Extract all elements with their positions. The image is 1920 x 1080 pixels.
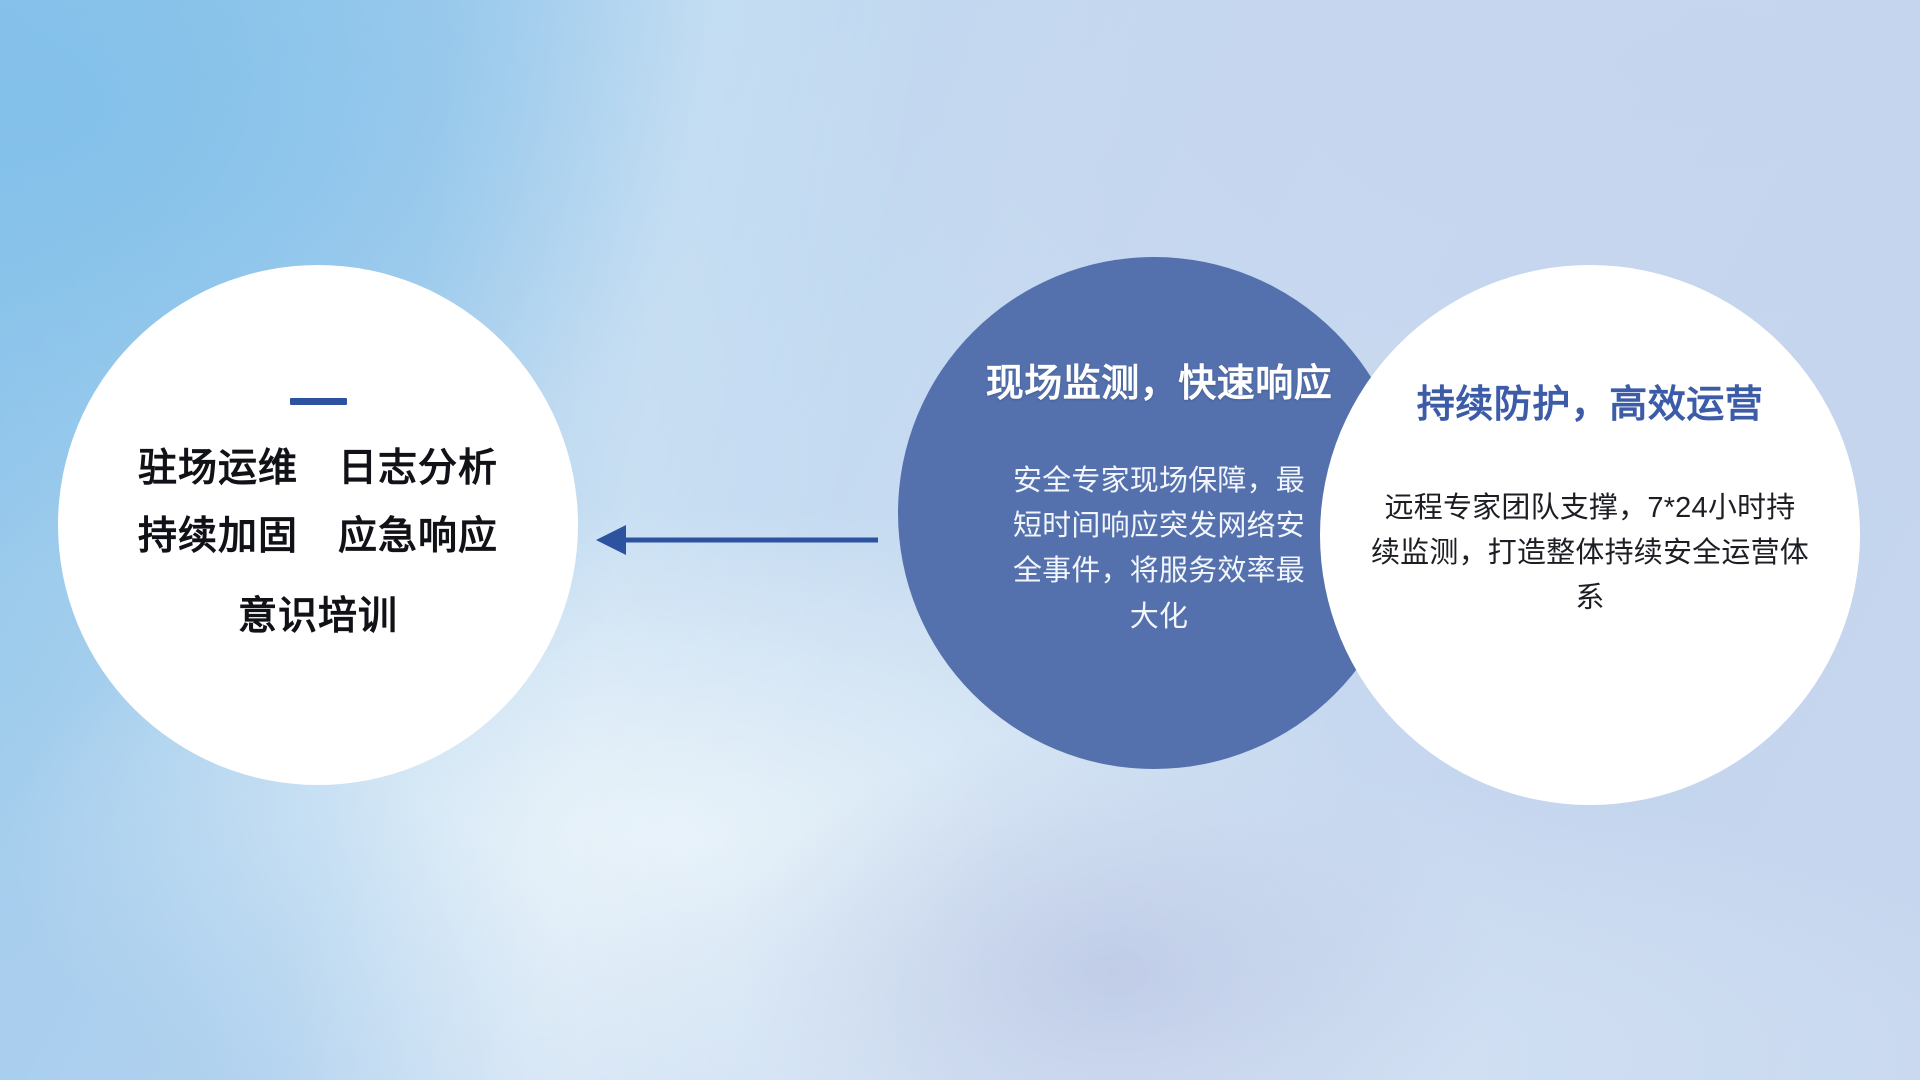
decorative-dash-icon: [290, 398, 347, 405]
capability-circle-content: 驻场运维 日志分析 持续加固 应急响应 意识培训: [58, 265, 578, 785]
continuous-defense-content: 持续防护，高效运营 远程专家团队支撑，7*24小时持续监测，打造整体持续安全运营…: [1320, 265, 1860, 805]
onsite-monitoring-title: 现场监测，快速响应: [986, 352, 1333, 407]
slide-canvas: 驻场运维 日志分析 持续加固 应急响应 意识培训 现场监测，快速响应 安全专家现…: [0, 0, 1920, 1080]
onsite-monitoring-description: 安全专家现场保障，最短时间响应突发网络安全事件，将服务效率最大化: [1000, 459, 1318, 640]
capability-line-3: 意识培训: [238, 596, 398, 638]
capability-line-1: 驻场运维 日志分析: [138, 448, 498, 490]
flow-arrow-left-icon: [592, 512, 878, 568]
continuous-defense-title: 持续防护，高效运营: [1417, 373, 1764, 428]
capability-line-2: 持续加固 应急响应: [138, 516, 498, 558]
continuous-defense-description: 远程专家团队支撑，7*24小时持续监测，打造整体持续安全运营体系: [1370, 486, 1810, 622]
